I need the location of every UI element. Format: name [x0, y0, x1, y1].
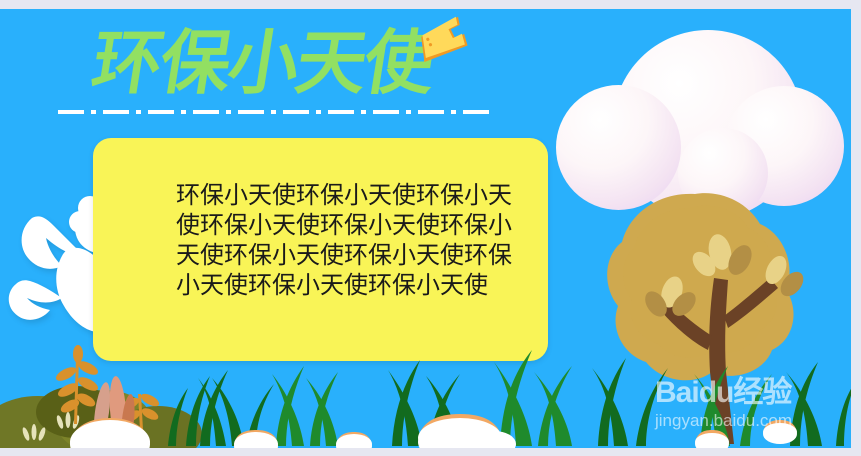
page-chrome-top: [0, 0, 861, 9]
foliage-band: [0, 338, 861, 448]
title-underline: [58, 110, 490, 114]
poster-canvas: 环保小天使: [0, 0, 861, 456]
grass-icon: [168, 350, 858, 446]
page-chrome-bottom: [0, 448, 861, 456]
content-card: 环保小天使环保小天使环保小天使环保小天使环保小天使环保小天使环保小天使环保小天使…: [93, 138, 548, 361]
page-chrome-right: [851, 0, 861, 456]
card-body-text: 环保小天使环保小天使环保小天使环保小天使环保小天使环保小天使环保小天使环保小天使…: [176, 180, 526, 300]
